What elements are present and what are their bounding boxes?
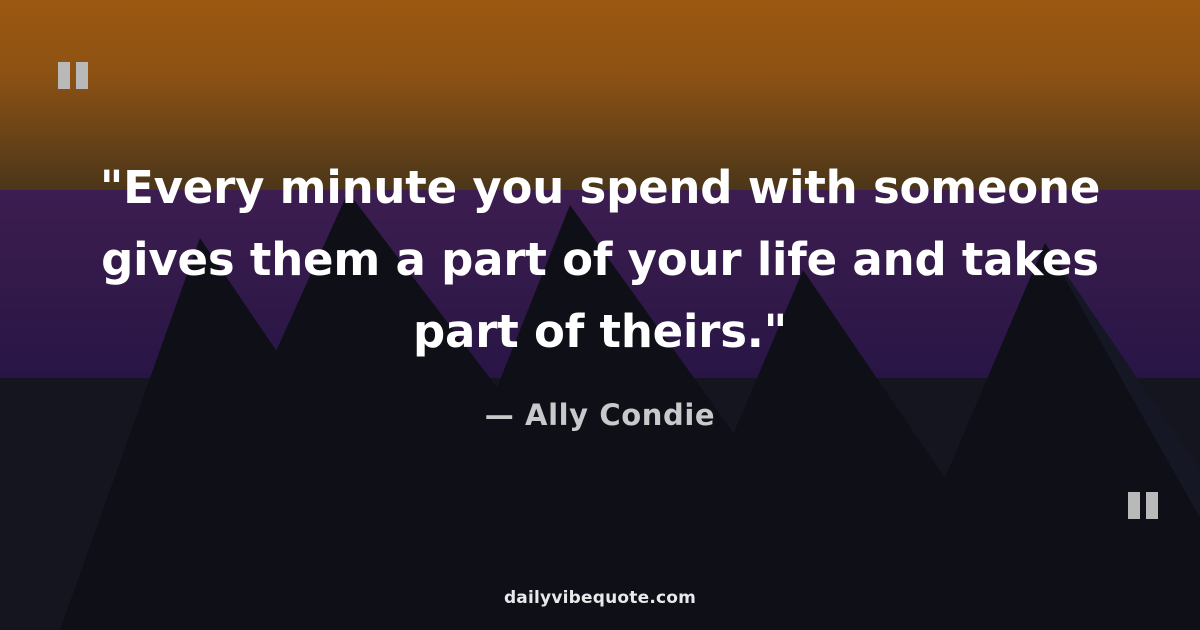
- content-layer: "Every minute you spend with someone giv…: [0, 0, 1200, 630]
- quote-author: — Ally Condie: [0, 398, 1200, 432]
- quote-text: "Every minute you spend with someone giv…: [50, 152, 1150, 368]
- site-watermark: dailyvibequote.com: [0, 588, 1200, 608]
- quote-card: "Every minute you spend with someone giv…: [0, 0, 1200, 630]
